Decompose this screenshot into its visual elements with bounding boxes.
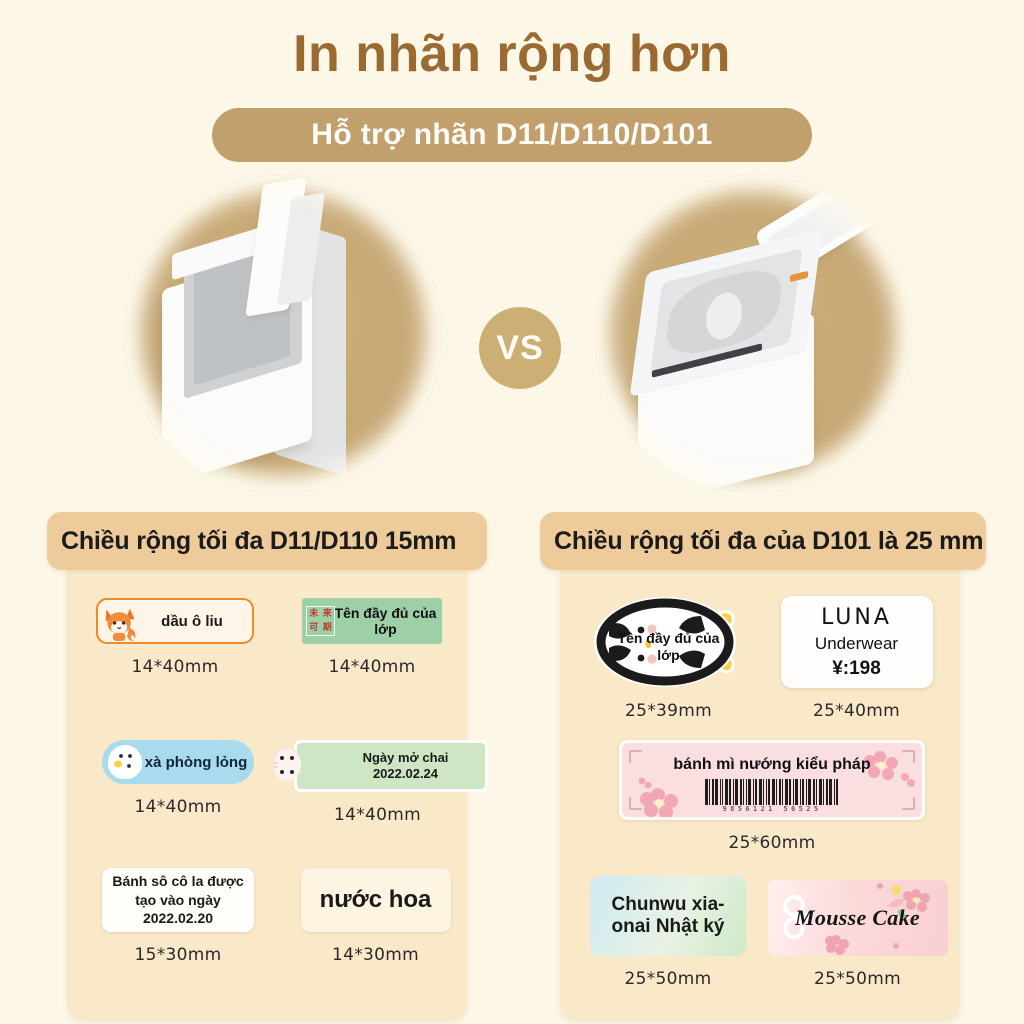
product-photo-wide <box>594 175 912 493</box>
label-cell: Bánh sô cô la được tạo vào ngày 2022.02.… <box>88 868 268 965</box>
vs-badge: VS <box>479 307 561 389</box>
label-line-2: 2022.02.24 <box>373 766 438 781</box>
label-chunwu-nhat-ky: Chunwu xia- onai Nhật ký <box>590 876 746 956</box>
printer-illustration-wide <box>594 175 912 493</box>
label-banh-so-co-la: Bánh sô cô la được tạo vào ngày 2022.02.… <box>102 868 254 932</box>
label-line-2: tạo vào ngày <box>135 892 221 908</box>
label-line-2: lớp <box>657 647 679 663</box>
label-text: Underwear <box>815 634 898 654</box>
label-text: Bánh sô cô la được tạo vào ngày 2022.02.… <box>112 872 243 927</box>
luna-brand-text: LUNA <box>821 605 892 630</box>
label-text: xà phòng lỏng <box>145 754 248 771</box>
label-size: 25*40mm <box>813 701 900 721</box>
panel-heading-text: Chiều rộng tối đa của D101 là 25 mm <box>540 527 997 556</box>
label-text: Chunwu xia- onai Nhật ký <box>612 894 725 939</box>
label-text: bánh mì nướng kiểu pháp <box>673 756 870 774</box>
label-size: 14*40mm <box>132 657 219 677</box>
label-cell: dầu ô liu 14*40mm <box>85 598 265 677</box>
label-ngay-mo-chai: Ngày mở chai 2022.02.24 <box>294 740 488 792</box>
label-ten-day-du-cua-lop: 未来可期 Tên đầy đủ của lớp <box>302 598 442 644</box>
label-preview: Mousse Cake <box>768 880 948 956</box>
label-size: 15*30mm <box>135 945 222 965</box>
panel-heading-d101: Chiều rộng tối đa của D101 là 25 mm <box>540 512 986 570</box>
label-size: 25*39mm <box>625 701 712 721</box>
subtitle-text: Hỗ trợ nhãn D11/D110/D101 <box>311 118 712 152</box>
label-dau-o-liu: dầu ô liu <box>96 598 254 644</box>
label-xa-phong-long: xà phòng lỏng <box>102 740 254 784</box>
label-preview: Tên đầy đủ của lớp <box>589 596 749 688</box>
label-preview: LUNA Underwear ¥:198 <box>781 596 933 688</box>
barcode-number: 9856121 56525 <box>723 805 822 813</box>
label-price: ¥:198 <box>832 658 881 680</box>
label-text: nước hoa <box>320 886 432 914</box>
label-line-2: onai Nhật ký <box>612 916 725 937</box>
barcode-icon <box>705 779 840 805</box>
label-cell: nước hoa 14*30mm <box>288 868 463 965</box>
fox-icon <box>102 604 138 642</box>
label-size: 25*50mm <box>625 969 712 989</box>
label-cell: Tên đầy đủ của lớp 25*39mm <box>576 596 761 721</box>
label-cell: LUNA Underwear ¥:198 25*40mm <box>769 596 944 721</box>
label-preview: bánh mì nướng kiểu pháp 9856121 56525 <box>619 740 925 820</box>
page-title: In nhãn rộng hơn <box>0 26 1024 83</box>
label-size: 14*40mm <box>329 657 416 677</box>
printer-illustration-narrow <box>124 175 442 493</box>
label-text: dầu ô liu <box>161 613 223 630</box>
label-preview: Bánh sô cô la được tạo vào ngày 2022.02.… <box>102 868 254 932</box>
label-size: 25*50mm <box>814 969 901 989</box>
label-preview: Ngày mở chai 2022.02.24 <box>268 740 488 792</box>
label-text: Tên đầy đủ của lớp <box>332 605 439 637</box>
label-text: Ngày mở chai 2022.02.24 <box>363 750 449 781</box>
label-text: Mousse Cake <box>795 905 920 931</box>
panel-heading-d11-d110: Chiều rộng tối đa D11/D110 15mm <box>47 512 487 570</box>
label-penguin-ten-day-du: Tên đầy đủ của lớp <box>589 596 749 688</box>
label-line-1: Tên đầy đủ của <box>618 630 720 646</box>
label-preview: 未来可期 Tên đầy đủ của lớp <box>302 598 442 644</box>
product-infographic: In nhãn rộng hơn Hỗ trợ nhãn D11/D110/D1… <box>0 0 1024 1024</box>
vs-label: VS <box>496 329 543 368</box>
label-preview: xà phòng lỏng <box>102 740 254 784</box>
label-size: 14*40mm <box>334 805 421 825</box>
label-size: 25*60mm <box>729 833 816 853</box>
label-cell: bánh mì nướng kiểu pháp 9856121 56525 25… <box>617 740 927 853</box>
label-cell: Mousse Cake 25*50mm <box>765 880 950 989</box>
label-size: 14*30mm <box>332 945 419 965</box>
label-preview: dầu ô liu <box>96 598 254 644</box>
label-line-1: Chunwu xia- <box>612 894 725 915</box>
label-cell: Chunwu xia- onai Nhật ký 25*50mm <box>578 876 758 989</box>
subtitle-pill: Hỗ trợ nhãn D11/D110/D101 <box>212 108 812 162</box>
label-line-1: Ngày mở chai <box>363 750 449 765</box>
panel-heading-text: Chiều rộng tối đa D11/D110 15mm <box>47 527 470 556</box>
label-size: 14*40mm <box>135 797 222 817</box>
label-luna-underwear: LUNA Underwear ¥:198 <box>781 596 933 688</box>
label-preview: Chunwu xia- onai Nhật ký <box>590 876 746 956</box>
cat-icon <box>271 745 303 785</box>
product-photo-narrow <box>124 175 442 493</box>
label-text: Tên đầy đủ của lớp <box>589 630 749 664</box>
label-line-3: 2022.02.20 <box>143 910 213 926</box>
label-cell: xà phòng lỏng 14*40mm <box>88 740 268 817</box>
label-cell: Ngày mở chai 2022.02.24 14*40mm <box>290 740 465 825</box>
label-nuoc-hoa: nước hoa <box>301 868 451 932</box>
label-banh-mi-nuong: bánh mì nướng kiểu pháp 9856121 56525 <box>619 740 925 820</box>
penguin-icon <box>108 745 142 779</box>
chinese-seal-icon: 未来可期 <box>306 606 335 636</box>
label-cell: 未来可期 Tên đầy đủ của lớp 14*40mm <box>287 598 457 677</box>
label-preview: nước hoa <box>301 868 451 932</box>
label-line-1: Bánh sô cô la được <box>112 873 243 889</box>
label-mousse-cake: Mousse Cake <box>768 880 948 956</box>
